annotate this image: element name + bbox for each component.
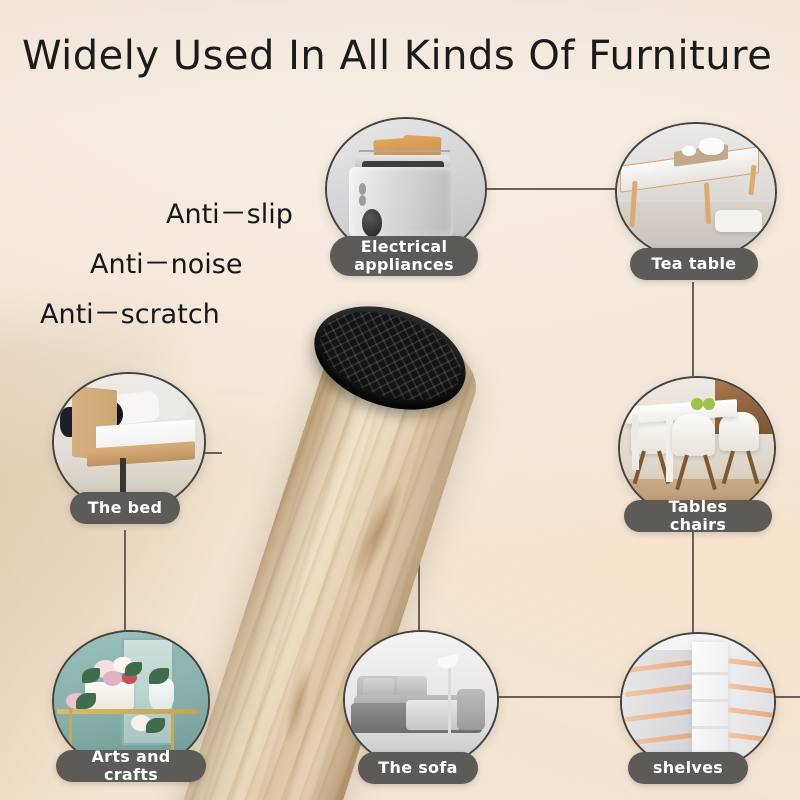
gold-shelf-upper	[57, 709, 199, 714]
sofa-armrest	[457, 689, 484, 730]
connector-right-upper-vertical	[692, 282, 694, 376]
dining-table-leg-2	[632, 414, 639, 470]
connector-sofa-vertical	[418, 560, 420, 632]
scene-sofa	[345, 632, 497, 768]
infographic-canvas: Widely Used In All Kinds Of Furniture An…	[0, 0, 800, 800]
shelf-post-right	[171, 709, 174, 753]
scene-tea-table	[617, 124, 775, 259]
toaster-rack	[359, 150, 451, 152]
floor-cushion	[715, 210, 762, 232]
label-tables-chairs[interactable]: Tables chairs	[624, 500, 772, 532]
connector-left-vertical	[124, 530, 126, 634]
scene-bed	[54, 374, 204, 510]
feature-anti-scratch: Anti－scratch	[40, 292, 220, 331]
bed-leg	[120, 458, 126, 493]
floor-lamp-pole	[448, 662, 451, 733]
rose-pink-2	[103, 671, 121, 686]
label-arts-and-crafts[interactable]: Arts and crafts	[56, 750, 206, 782]
leaf-1	[82, 668, 100, 683]
label-the-bed[interactable]: The bed	[70, 492, 180, 524]
feature-anti-slip: Anti－slip	[166, 192, 293, 231]
chair-3	[719, 412, 759, 451]
shelf-divider-1	[692, 672, 728, 675]
label-electrical-appliances[interactable]: Electrical appliances	[330, 236, 478, 276]
label-tea-table[interactable]: Tea table	[630, 248, 758, 280]
photo-the-sofa[interactable]	[343, 630, 499, 770]
connector-right-lower-vertical	[692, 528, 694, 634]
photo-shelves[interactable]	[620, 632, 776, 772]
connector-top-horizontal	[470, 188, 616, 190]
teapot	[699, 138, 724, 156]
toaster-knob	[362, 209, 383, 237]
toaster-button-1	[359, 183, 367, 194]
scene-shelves	[622, 634, 774, 770]
sofa-cushion-2	[397, 676, 427, 696]
feature-anti-noise: Anti－noise	[90, 242, 242, 281]
shelf-divider-2	[692, 699, 728, 702]
photo-the-bed[interactable]	[52, 372, 206, 512]
shelf-divider-3	[692, 726, 728, 729]
photo-tea-table[interactable]	[615, 122, 777, 261]
page-title: Widely Used In All Kinds Of Furniture	[22, 33, 772, 79]
sofa-chaise	[406, 700, 461, 730]
chair-2	[672, 414, 715, 456]
label-shelves[interactable]: shelves	[628, 752, 748, 784]
label-the-sofa[interactable]: The sofa	[358, 752, 478, 784]
shelf-post-left	[69, 709, 72, 753]
